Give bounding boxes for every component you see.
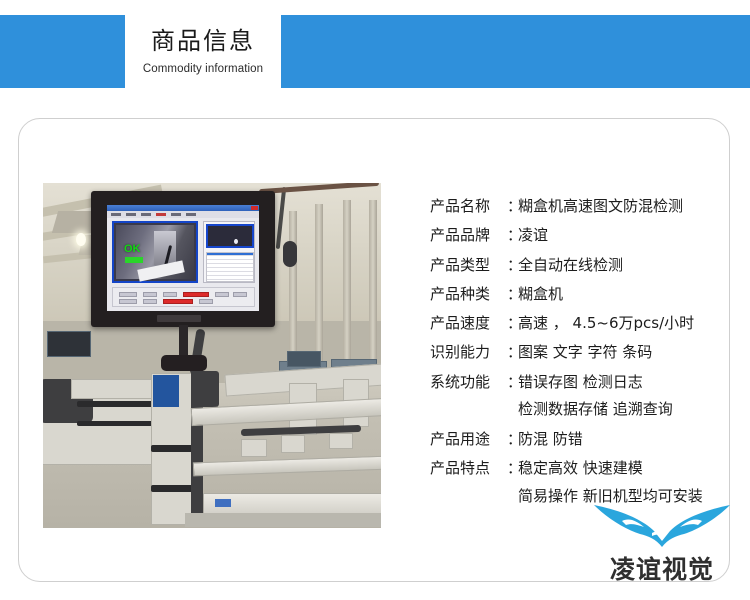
spec-value: 凌谊: [518, 225, 730, 247]
spec-label: 识别能力: [430, 342, 507, 364]
machine-bar: [77, 421, 155, 426]
monitor-stand-base: [161, 355, 207, 371]
spec-label: 产品品牌: [430, 225, 507, 247]
brand-logo: 凌谊视觉: [592, 503, 732, 585]
menu-item[interactable]: [111, 213, 121, 216]
banner-title-block: 商品信息 Commodity information: [125, 15, 281, 88]
spec-row-category: 产品种类 ： 糊盒机: [430, 284, 730, 306]
brand-name: 凌谊视觉: [592, 550, 732, 586]
spec-value: 稳定高效 快速建模 简易操作 新旧机型均可安装: [518, 458, 730, 508]
spec-row-product-name: 产品名称 ： 糊盒机高速图文防混检测: [430, 196, 730, 218]
banner-bar-right: [281, 15, 750, 88]
spec-value-line1: 稳定高效 快速建模: [518, 459, 643, 477]
machine-accent: [215, 499, 231, 507]
page-title: 商品信息: [151, 28, 255, 56]
control-button[interactable]: [199, 299, 213, 304]
machine-base: [185, 513, 381, 527]
spec-label: 产品用途: [430, 429, 507, 451]
table-row[interactable]: [207, 257, 253, 260]
monitor-screen: OK: [107, 205, 259, 311]
software-control-panel: [112, 287, 255, 307]
menu-item[interactable]: [126, 213, 136, 216]
spec-colon: ：: [507, 284, 518, 306]
menu-item[interactable]: [186, 213, 196, 216]
spec-value-line2: 检测数据存储 追溯查询: [518, 399, 730, 421]
menu-item[interactable]: [156, 213, 166, 216]
page-header-banner: 商品信息 Commodity information: [0, 15, 750, 88]
control-button[interactable]: [119, 299, 137, 304]
wings-icon: [592, 503, 732, 549]
machine-bar: [77, 401, 155, 407]
table-row[interactable]: [207, 265, 253, 268]
page-subtitle: Commodity information: [143, 63, 263, 75]
spec-value: 防混 防错: [518, 429, 730, 451]
spec-label: 产品速度: [430, 313, 507, 335]
reference-panel: [203, 221, 255, 283]
machine-bar: [151, 445, 195, 452]
reference-image: [206, 224, 254, 248]
software-menubar: [107, 211, 259, 218]
spec-colon: ：: [507, 313, 518, 335]
control-button[interactable]: [119, 292, 137, 297]
spec-row-recognition: 识别能力 ： 图案 文字 字符 条码: [430, 342, 730, 364]
spec-colon: ：: [507, 196, 518, 218]
machine-block: [329, 433, 353, 449]
spec-row-features: 产品特点 ： 稳定高效 快速建模 简易操作 新旧机型均可安装: [430, 458, 730, 508]
banner-bar-left: [0, 15, 125, 88]
machine-frame: [71, 379, 157, 399]
table-row[interactable]: [207, 277, 253, 280]
close-icon[interactable]: [251, 206, 258, 210]
camera-head: [197, 371, 219, 407]
product-info-page: 商品信息 Commodity information: [0, 0, 750, 600]
alarm-button[interactable]: [183, 292, 209, 297]
alarm-button[interactable]: [163, 299, 193, 304]
spec-colon: ：: [507, 429, 518, 451]
menu-item[interactable]: [141, 213, 151, 216]
control-button[interactable]: [163, 292, 177, 297]
spec-label: 产品名称: [430, 196, 507, 218]
monitor-brand-logo: [157, 315, 201, 322]
spec-value: 糊盒机高速图文防混检测: [518, 196, 730, 218]
reference-marker: [234, 239, 238, 244]
spec-row-type: 产品类型 ： 全自动在线检测: [430, 255, 730, 277]
spec-colon: ：: [507, 458, 518, 480]
control-button[interactable]: [215, 292, 229, 297]
spec-value: 错误存图 检测日志 检测数据存储 追溯查询: [518, 372, 730, 422]
inspection-monitor: OK: [91, 191, 275, 327]
live-camera-view: OK: [112, 221, 198, 283]
spec-value: 糊盒机: [518, 284, 730, 306]
table-row[interactable]: [207, 269, 253, 272]
spec-row-system-function: 系统功能 ： 错误存图 检测日志 检测数据存储 追溯查询: [430, 372, 730, 422]
spec-row-speed: 产品速度 ： 高速 ， 4.5~6万pcs/小时: [430, 313, 730, 335]
inspection-status-badge: OK: [124, 243, 141, 255]
spec-value-line1: 错误存图 检测日志: [518, 373, 643, 391]
spec-value: 全自动在线检测: [518, 255, 730, 277]
spec-label: 产品特点: [430, 458, 507, 480]
control-button[interactable]: [143, 299, 157, 304]
ceiling-lamp-icon: [76, 233, 86, 246]
machine-bar: [151, 485, 195, 492]
control-button[interactable]: [233, 292, 247, 297]
spec-label: 产品种类: [430, 284, 507, 306]
status-bar-indicator: [125, 257, 143, 263]
table-row[interactable]: [207, 273, 253, 276]
menu-item[interactable]: [171, 213, 181, 216]
spec-label: 系统功能: [430, 372, 507, 394]
specification-list: 产品名称 ： 糊盒机高速图文防混检测 产品品牌 ： 凌谊 产品类型 ： 全自动在…: [430, 196, 730, 515]
spec-value: 高速 ， 4.5~6万pcs/小时: [518, 313, 730, 335]
spec-value: 图案 文字 字符 条码: [518, 342, 730, 364]
results-table: [206, 252, 254, 282]
product-photo: OK: [43, 183, 381, 528]
spec-row-usage: 产品用途 ： 防混 防错: [430, 429, 730, 451]
hanging-fixture: [283, 241, 297, 267]
spec-colon: ：: [507, 342, 518, 364]
equipment-rack: [47, 331, 91, 357]
machine-block: [241, 439, 267, 457]
control-button[interactable]: [143, 292, 157, 297]
equipment-rack: [287, 351, 321, 367]
table-row[interactable]: [207, 261, 253, 264]
table-row[interactable]: [207, 253, 253, 256]
spec-colon: ：: [507, 225, 518, 247]
spec-row-brand: 产品品牌 ： 凌谊: [430, 225, 730, 247]
spec-colon: ：: [507, 372, 518, 394]
spec-label: 产品类型: [430, 255, 507, 277]
machine-block: [281, 435, 305, 453]
monitor-stand-neck: [179, 325, 188, 359]
spec-colon: ：: [507, 255, 518, 277]
blue-panel: [153, 375, 179, 407]
